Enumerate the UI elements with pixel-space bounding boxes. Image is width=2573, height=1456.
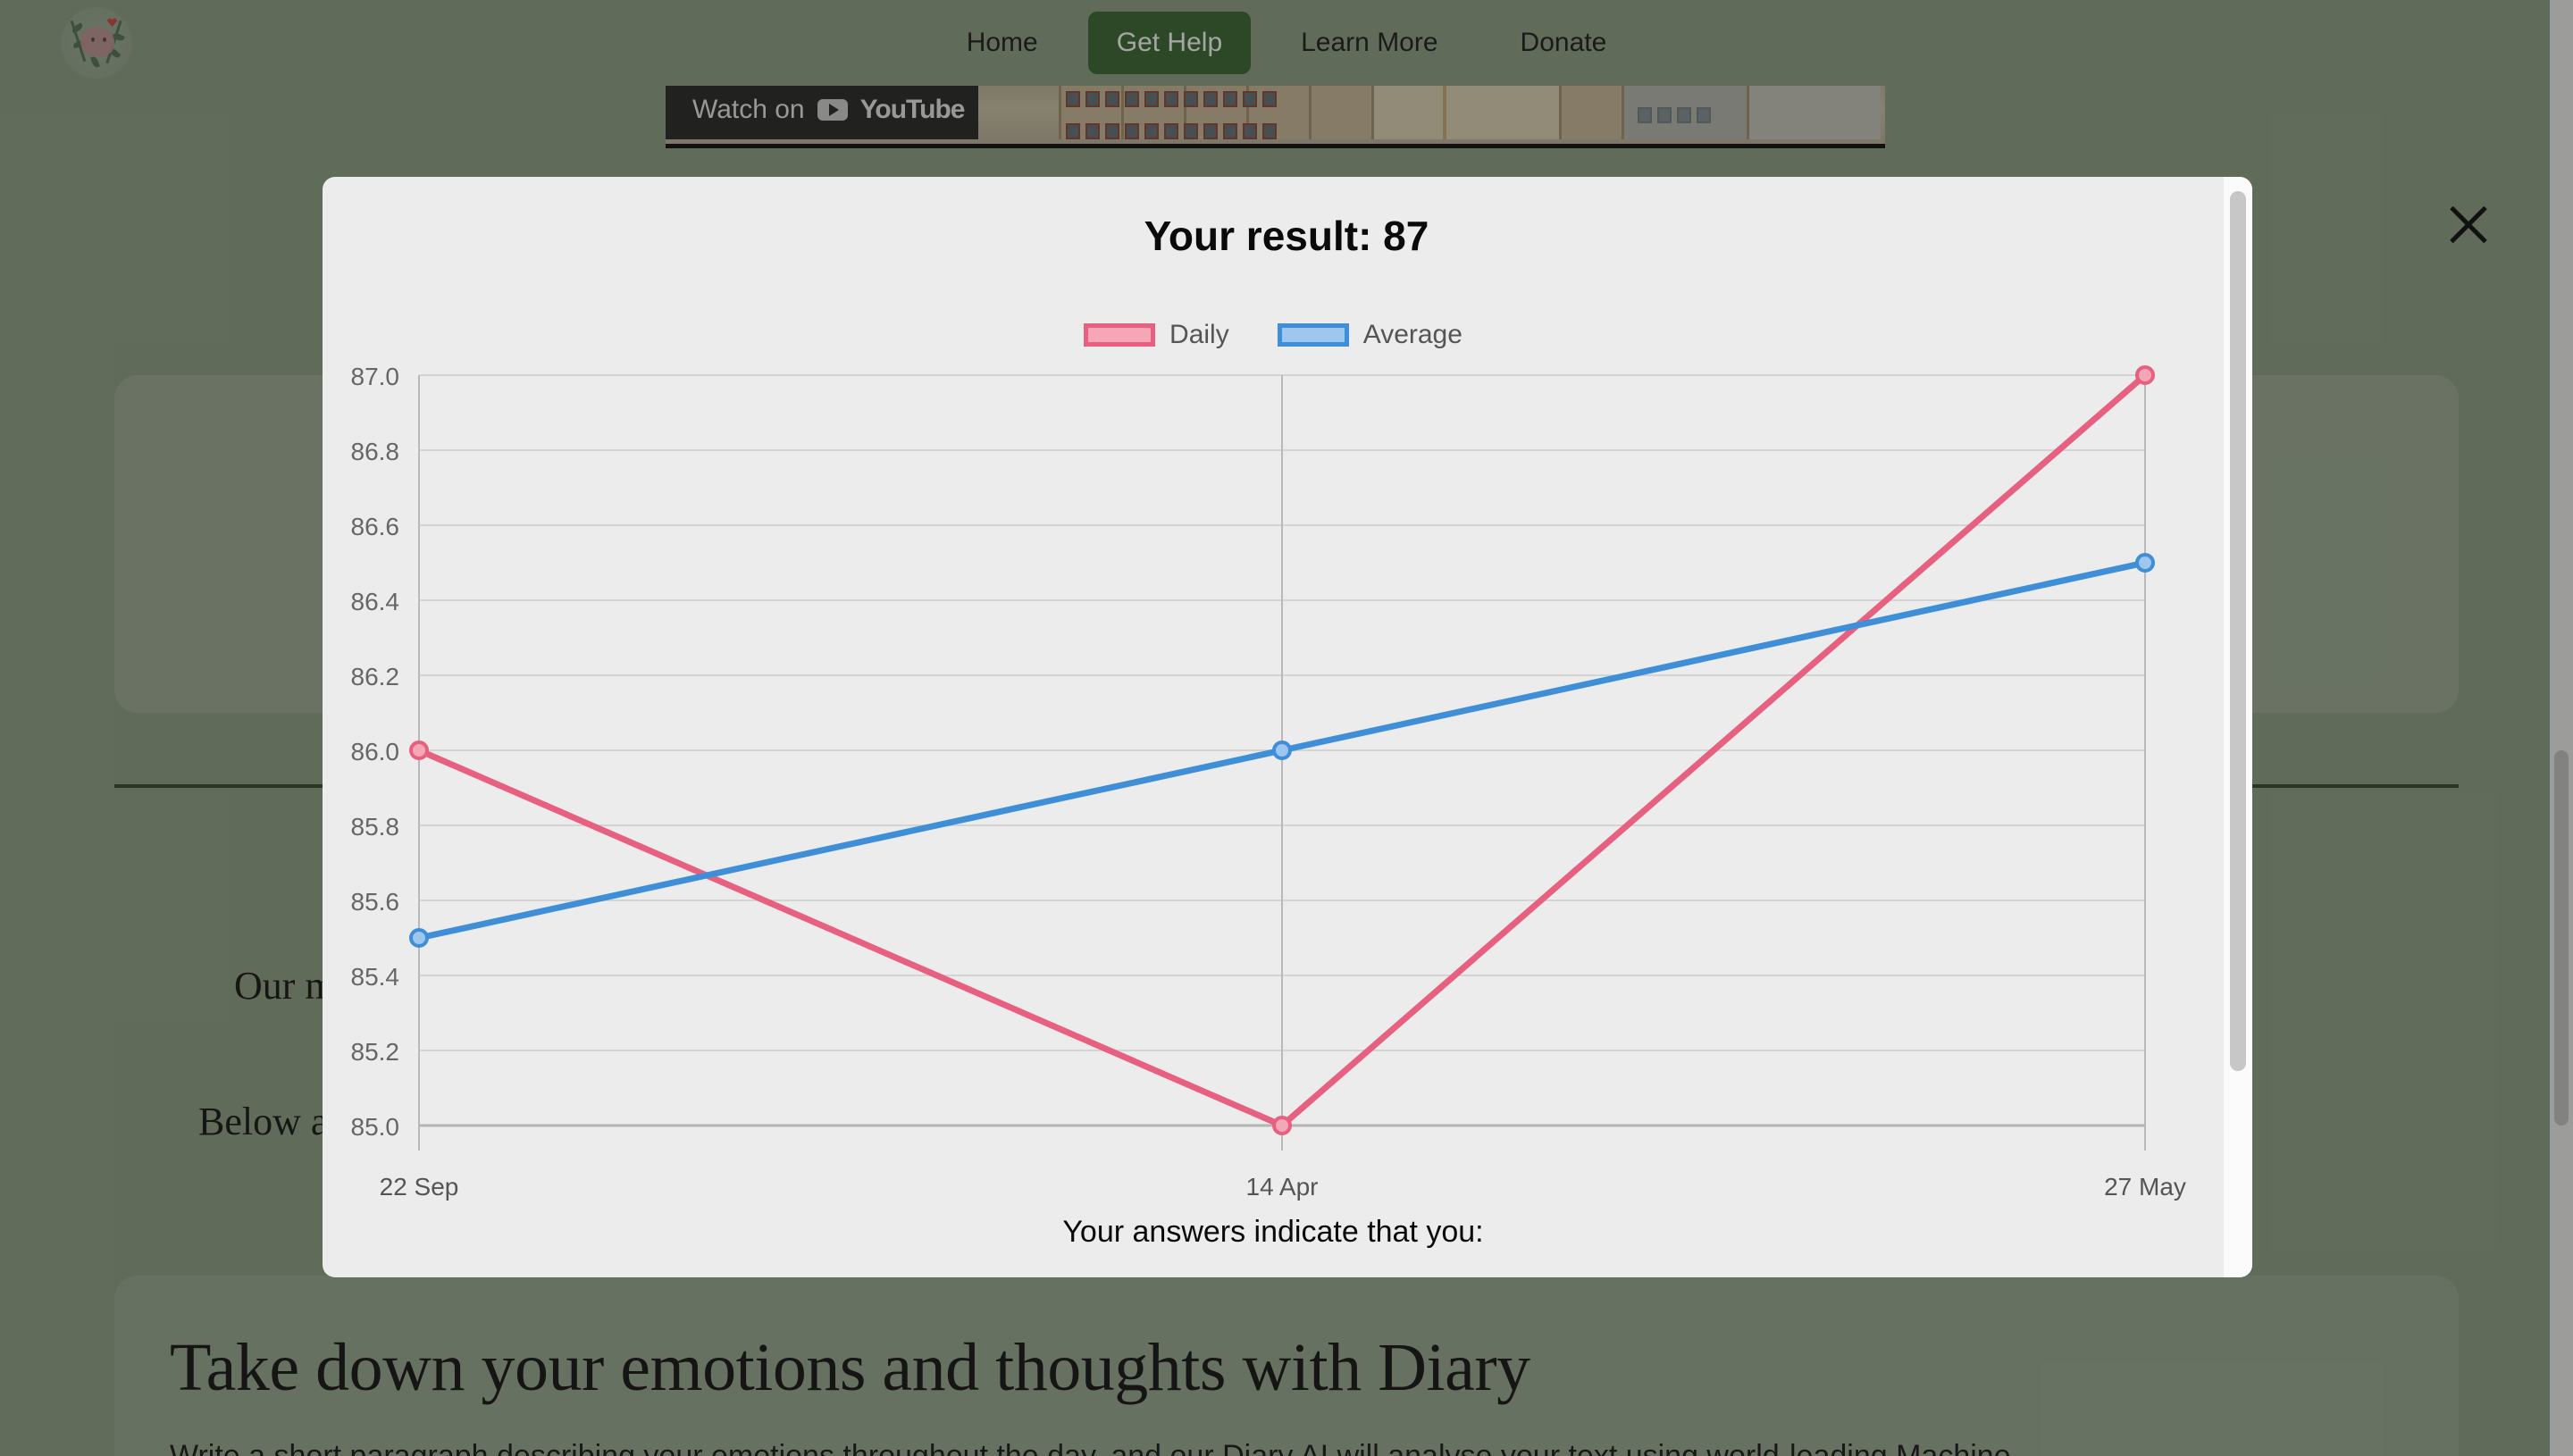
y-axis-tick-label: 85.6 [351, 888, 400, 916]
chart-data-point[interactable] [1274, 1117, 1290, 1134]
y-axis-tick-label: 85.2 [351, 1038, 400, 1066]
legend-swatch-daily [1084, 323, 1155, 347]
y-axis-tick-label: 86.0 [351, 738, 400, 766]
chart-data-point[interactable] [411, 930, 427, 946]
modal-title: Your result: 87 [0, 212, 2573, 260]
y-axis-tick-label: 86.2 [351, 663, 400, 690]
y-axis-tick-label: 85.8 [351, 813, 400, 841]
close-icon[interactable] [2443, 198, 2494, 250]
chart-legend: Daily Average [323, 320, 2224, 350]
x-axis-tick-label: 14 Apr [1246, 1173, 1319, 1201]
chart-data-point[interactable] [2137, 367, 2153, 383]
y-axis-tick-label: 85.4 [351, 963, 400, 991]
modal-scrollbar[interactable] [2224, 177, 2252, 1277]
chart-data-point[interactable] [1274, 742, 1290, 758]
y-axis-tick-label: 85.0 [351, 1113, 400, 1141]
x-axis-tick-label: 27 May [2104, 1173, 2186, 1201]
modal-scrollbar-thumb[interactable] [2230, 191, 2246, 1071]
chart-data-point[interactable] [411, 742, 427, 758]
chart-svg: 87.086.886.686.486.286.085.885.685.485.2… [323, 356, 2224, 1213]
legend-swatch-average [1278, 323, 1349, 347]
legend-label-average: Average [1363, 320, 1463, 350]
result-chart: Daily Average 87.086.886.686.486.286.085… [323, 295, 2224, 1277]
x-axis-tick-label: 22 Sep [380, 1173, 459, 1201]
chart-footer-note: Your answers indicate that you: [323, 1215, 2224, 1250]
chart-plot-area: 87.086.886.686.486.286.085.885.685.485.2… [323, 356, 2224, 1213]
y-axis-tick-label: 87.0 [351, 363, 400, 390]
y-axis-tick-label: 86.8 [351, 438, 400, 465]
y-axis-tick-label: 86.4 [351, 588, 400, 615]
legend-item-average[interactable]: Average [1278, 320, 1463, 350]
legend-item-daily[interactable]: Daily [1084, 320, 1229, 350]
y-axis-tick-label: 86.6 [351, 513, 400, 540]
chart-data-point[interactable] [2137, 555, 2153, 571]
legend-label-daily: Daily [1169, 320, 1229, 350]
